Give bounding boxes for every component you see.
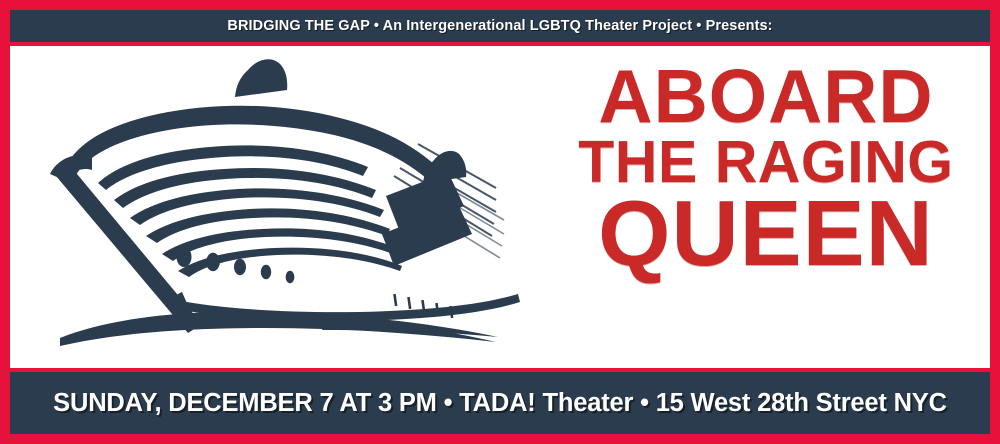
title-line-3: QUEEN [556, 191, 976, 277]
poster-body: ABOARD THE RAGING QUEEN [10, 46, 990, 368]
header-bar: BRIDGING THE GAP • An Intergenerational … [10, 10, 990, 42]
event-details-line: SUNDAY, DECEMBER 7 AT 3 PM • TADA! Theat… [53, 389, 947, 418]
presenter-line: BRIDGING THE GAP • An Intergenerational … [227, 18, 772, 34]
cruise-ship-icon [26, 48, 536, 348]
footer-bar: SUNDAY, DECEMBER 7 AT 3 PM • TADA! Theat… [10, 372, 990, 434]
title-line-1: ABOARD [556, 62, 976, 131]
show-title: ABOARD THE RAGING QUEEN [556, 62, 976, 277]
event-poster: BRIDGING THE GAP • An Intergenerational … [0, 0, 1000, 444]
